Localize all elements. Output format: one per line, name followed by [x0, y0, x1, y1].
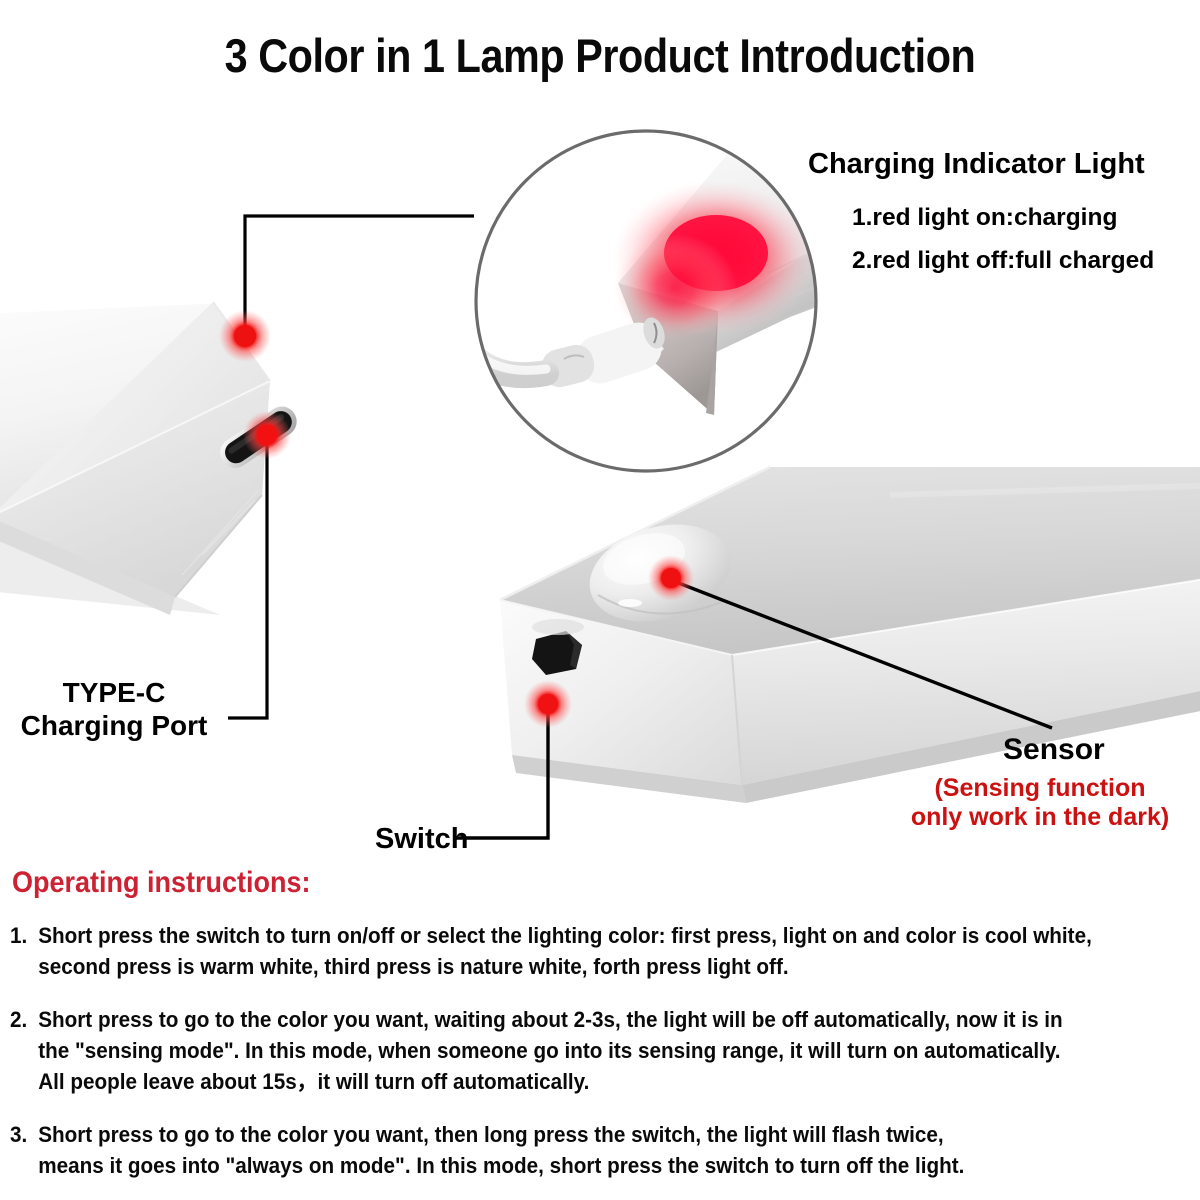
sensor-marker — [648, 555, 694, 601]
charging-port-marker — [243, 411, 291, 459]
instruction-item: 2. Short press to go to the color you wa… — [10, 1004, 1119, 1097]
instruction-number: 2. — [10, 1004, 38, 1035]
charging-indicator-line-2: 2.red light off:full charged — [852, 247, 1154, 275]
charging-indicator-title: Charging Indicator Light — [808, 148, 1145, 181]
instruction-text: Short press to go to the color you want,… — [38, 1119, 1119, 1181]
instruction-text: Short press the switch to turn on/off or… — [38, 920, 1119, 982]
sensor-label: Sensor — [1003, 733, 1105, 767]
instruction-item: 3. Short press to go to the color you wa… — [10, 1119, 1119, 1181]
operating-instructions-heading: Operating instructions: — [12, 866, 311, 900]
type-c-label-line-1: TYPE-C — [0, 676, 228, 709]
instruction-text: Short press to go to the color you want,… — [38, 1004, 1119, 1097]
charging-indicator-line-1: 1.red light on:charging — [852, 204, 1117, 232]
sensor-note: (Sensing function only work in the dark) — [890, 774, 1190, 832]
operating-instructions-list: 1. Short press the switch to turn on/off… — [10, 920, 1190, 1200]
sensor-note-line-1: (Sensing function — [890, 774, 1190, 803]
infographic-page: 3 Color in 1 Lamp Product Introduction — [0, 0, 1200, 1200]
type-c-charging-port-label: TYPE-C Charging Port — [0, 676, 228, 742]
switch-label: Switch — [375, 823, 468, 856]
sensor-note-line-2: only work in the dark) — [890, 803, 1190, 832]
switch-marker — [524, 680, 572, 728]
instruction-number: 1. — [10, 920, 38, 951]
instruction-item: 1. Short press the switch to turn on/off… — [10, 920, 1119, 982]
type-c-label-line-2: Charging Port — [0, 709, 228, 742]
charging-port-top-marker — [219, 310, 271, 362]
instruction-number: 3. — [10, 1119, 38, 1150]
